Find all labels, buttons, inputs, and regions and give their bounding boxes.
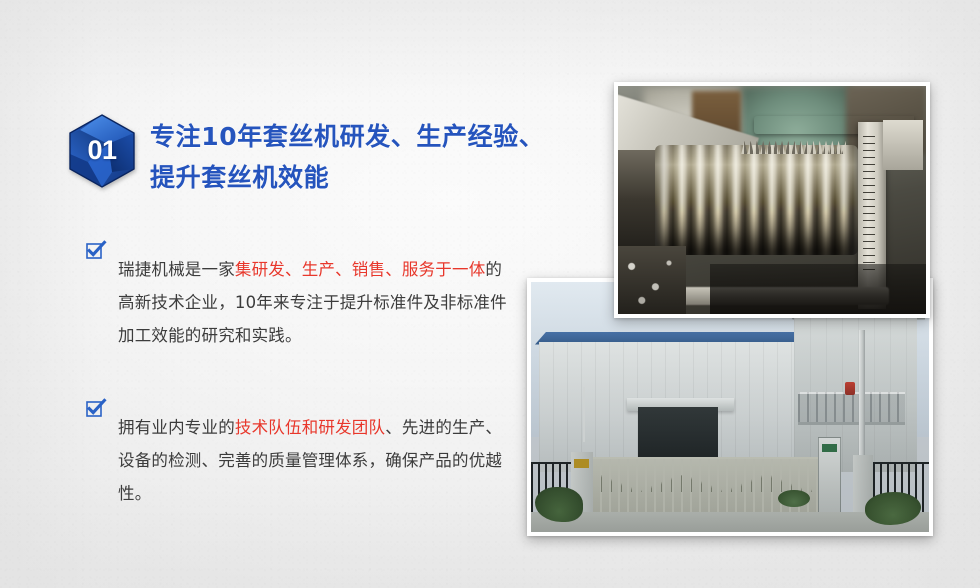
metal-chips [618,246,686,314]
checkbox-checked-icon [86,241,105,260]
balcony-railing [798,392,905,425]
caliper-scale-ticks [863,136,875,273]
threaded-section [655,145,858,254]
bullet-2-seg-0: 拥有业内专业的 [118,418,235,437]
list-item: 拥有业内专业的技术队伍和研发团队、先进的生产、设备的检测、完善的质量管理体系，确… [86,394,538,526]
bush-middle [778,490,810,508]
content-column: 01 专注10年套丝机研发、生产经验、 提升套丝机效能 瑞捷机械是一家集研发、生… [68,112,538,526]
heading-row: 01 专注10年套丝机研发、生产经验、 提升套丝机效能 [68,112,538,198]
machine-base-shadow [710,264,926,314]
caliper-jaw-block [883,120,923,170]
alarm-lamp [845,382,855,395]
gate-lattice [591,475,818,493]
page-title: 专注10年套丝机研发、生产经验、 提升套丝机效能 [150,112,544,198]
bullet-text: 瑞捷机械是一家集研发、生产、销售、服务于一体的高新技术企业，10年来专注于提升标… [118,253,510,352]
promo-banner: 01 专注10年套丝机研发、生产经验、 提升套丝机效能 瑞捷机械是一家集研发、生… [0,0,980,588]
bullet-2-seg-1: 技术队伍和研发团队 [235,418,385,437]
headline-line-1: 专注10年套丝机研发、生产经验、 [150,116,544,157]
machine-photo-frame [618,86,926,314]
machining-scene [618,86,926,314]
guard-booth [818,437,842,517]
drain-pipe [859,330,864,470]
threaded-pipe-machining-photo [614,82,930,318]
step-number-label: 01 [68,114,136,188]
bullet-text: 拥有业内专业的技术队伍和研发团队、先进的生产、设备的检测、完善的质量管理体系，确… [118,411,510,510]
list-item: 瑞捷机械是一家集研发、生产、销售、服务于一体的高新技术企业，10年来专注于提升标… [86,236,538,368]
bullet-1-seg-0: 瑞捷机械是一家 [118,260,235,279]
feature-bullet-list: 瑞捷机械是一家集研发、生产、销售、服务于一体的高新技术企业，10年来专注于提升标… [86,236,538,526]
office-annex [794,310,917,473]
bullet-1-seg-1: 集研发、生产、销售、服务于一体 [235,260,486,279]
antenna-pole [583,387,585,442]
factory-scene [531,282,929,532]
step-number-badge: 01 [68,114,136,188]
checkbox-checked-icon [86,399,105,418]
headline-line-2: 提升套丝机效能 [150,157,544,198]
factory-photo-frame [531,282,929,532]
